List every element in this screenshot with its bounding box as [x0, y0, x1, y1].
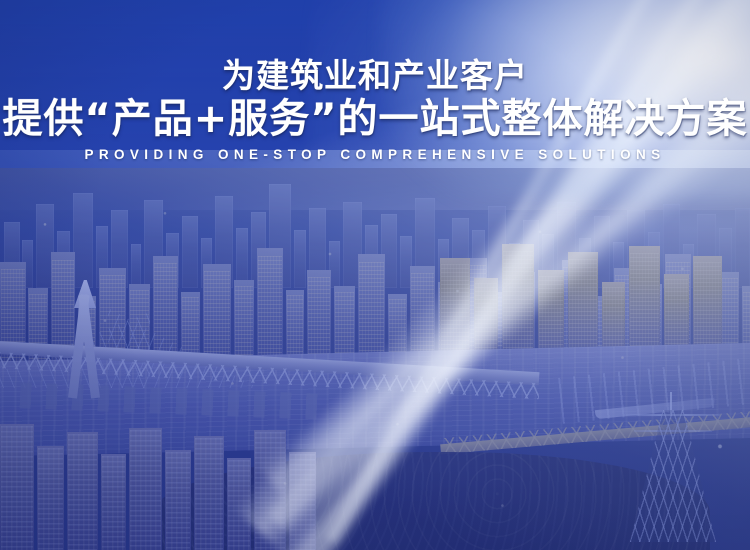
hero-banner: 为建筑业和产业客户 提供“产品+服务”的一站式整体解决方案 PROVIDING …	[0, 0, 750, 550]
lit-highrise-cluster	[430, 212, 750, 362]
cityscape-background	[0, 0, 750, 550]
bridge-pylon	[58, 286, 114, 398]
foreground-highrises	[0, 420, 320, 550]
power-transmission-tower	[630, 392, 716, 542]
